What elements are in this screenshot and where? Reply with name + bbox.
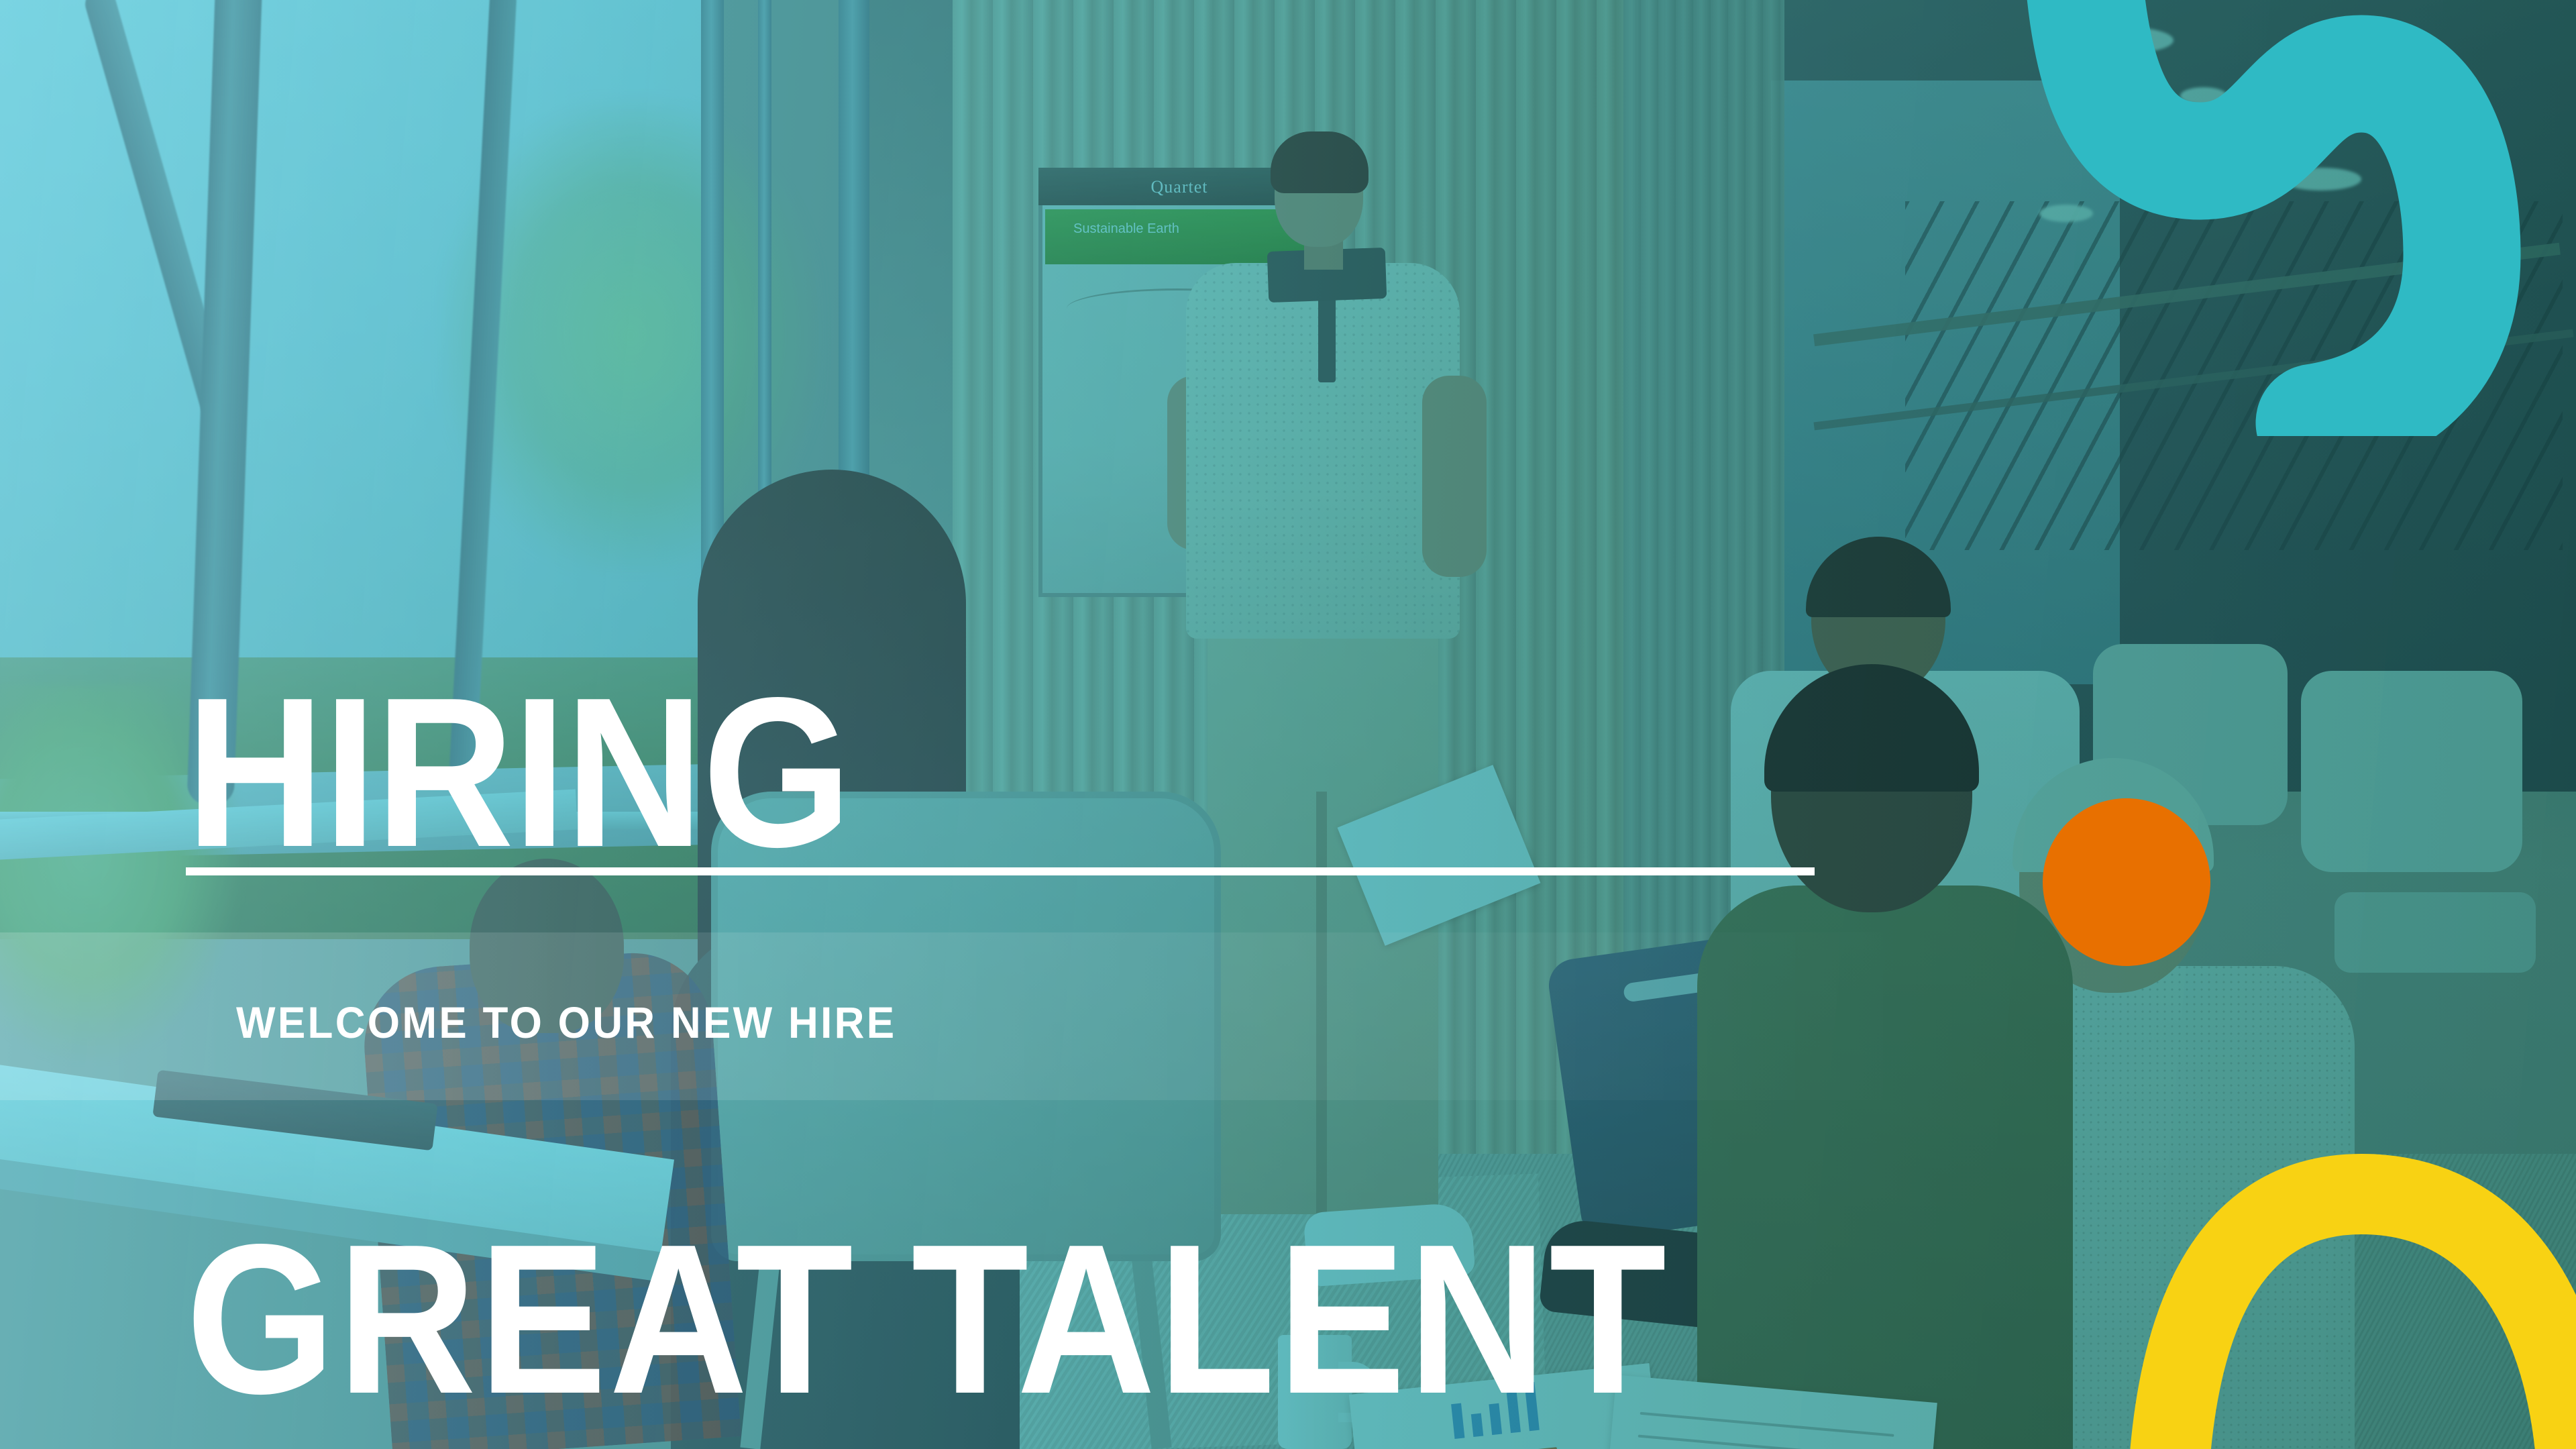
page-title: HIRING GREAT TALENT — [186, 317, 1669, 1449]
hiring-banner: Quartet Sustainable Earth — [0, 0, 2576, 1449]
headline-line-1: HIRING — [186, 682, 1669, 864]
headline-line-2: GREAT TALENT — [186, 1228, 1669, 1411]
title-divider-rule — [186, 867, 1815, 875]
banner-content: HIRING GREAT TALENT WELCOME TO OUR NEW H… — [0, 0, 2576, 1449]
subtitle: WELCOME TO OUR NEW HIRE — [236, 997, 896, 1048]
